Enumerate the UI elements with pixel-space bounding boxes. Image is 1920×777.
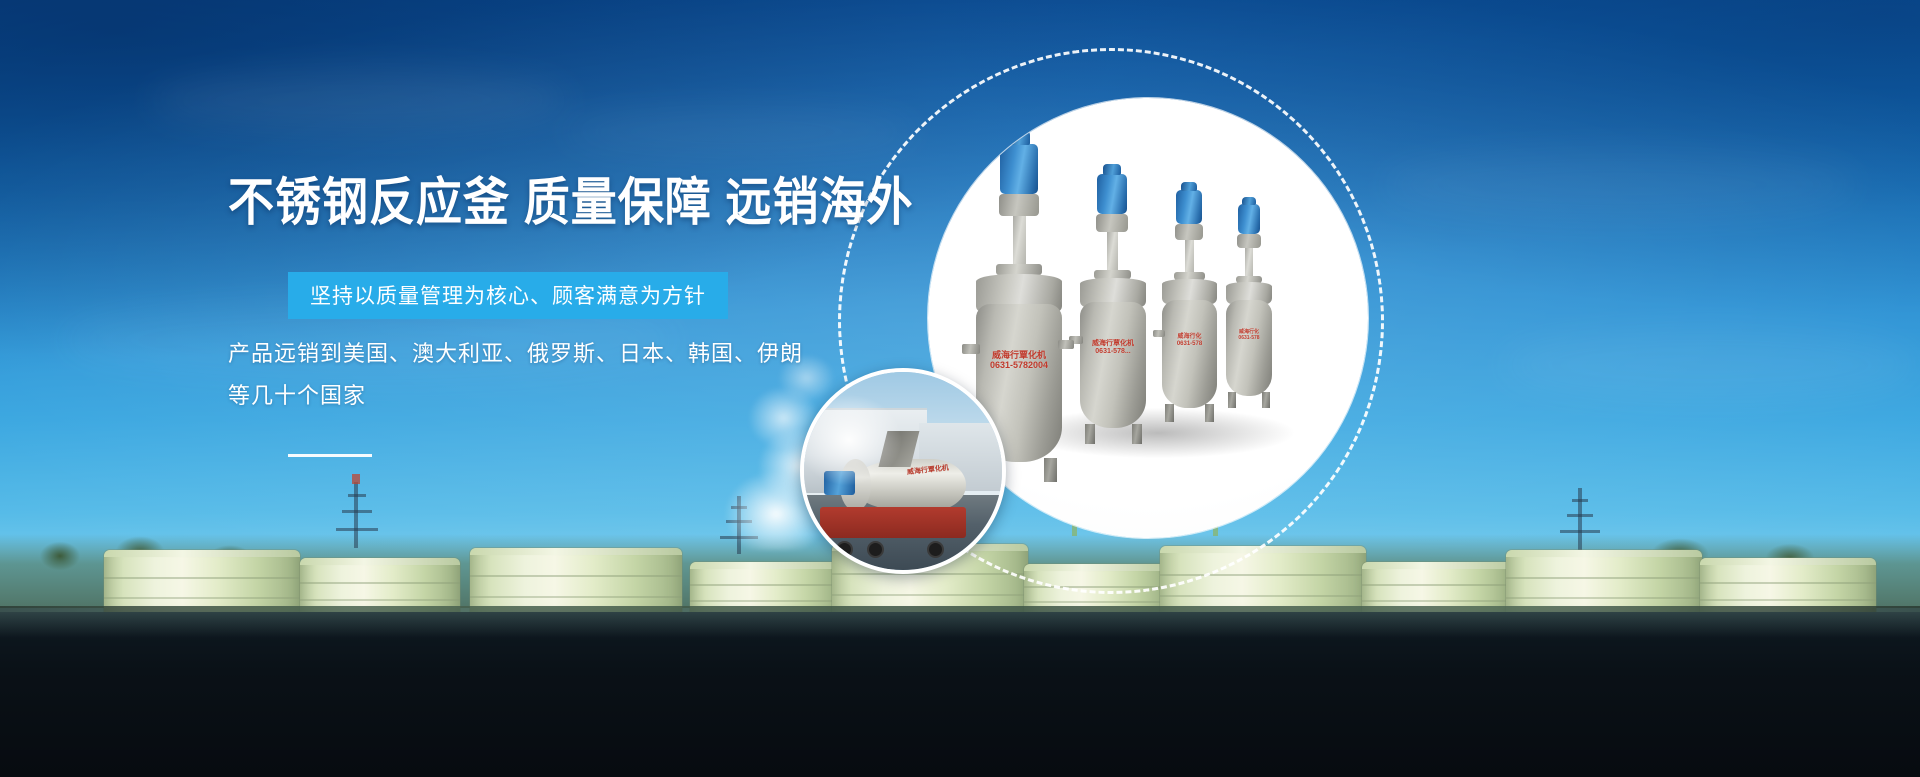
inset-truck-bed [820, 507, 967, 539]
banner-root: 威海行化 0631-578 威海行化 0631-578 [0, 0, 1920, 777]
vessel-label: 威海行化 0631-578 [1228, 330, 1270, 342]
body-line-1: 产品远销到美国、澳大利亚、俄罗斯、日本、韩国、伊朗 [228, 333, 803, 375]
page-title: 不锈钢反应釜 质量保障 远销海外 [228, 162, 914, 236]
vessel-label: 威海行化 0631-578 [1164, 334, 1215, 348]
inset-photo-circle: 威海行覃化机 [800, 368, 1006, 574]
cloud-wisp [560, 110, 920, 154]
power-pylon [330, 482, 384, 548]
inset-smoke [800, 368, 924, 492]
vessel-label: 威海行覃化机 0631-5782004 [980, 350, 1058, 371]
divider-rule [288, 454, 372, 457]
body-line-2: 等几十个国家 [228, 375, 803, 417]
inset-wheel [927, 541, 944, 558]
inset-wheel [836, 541, 853, 558]
cloud-wisp [1380, 150, 1860, 220]
cloud-wisp [1500, 330, 1920, 400]
water-reflection [0, 612, 1920, 638]
power-pylon [1556, 488, 1606, 550]
subtitle-bar: 坚持以质量管理为核心、顾客满意为方针 [288, 272, 728, 319]
subtitle-text: 坚持以质量管理为核心、顾客满意为方针 [310, 285, 706, 308]
vessel-label: 威海行覃化机 0631-578... [1083, 340, 1143, 356]
cloud-wisp [150, 70, 570, 130]
body-copy: 产品远销到美国、澳大利亚、俄罗斯、日本、韩国、伊朗 等几十个国家 [228, 333, 803, 417]
